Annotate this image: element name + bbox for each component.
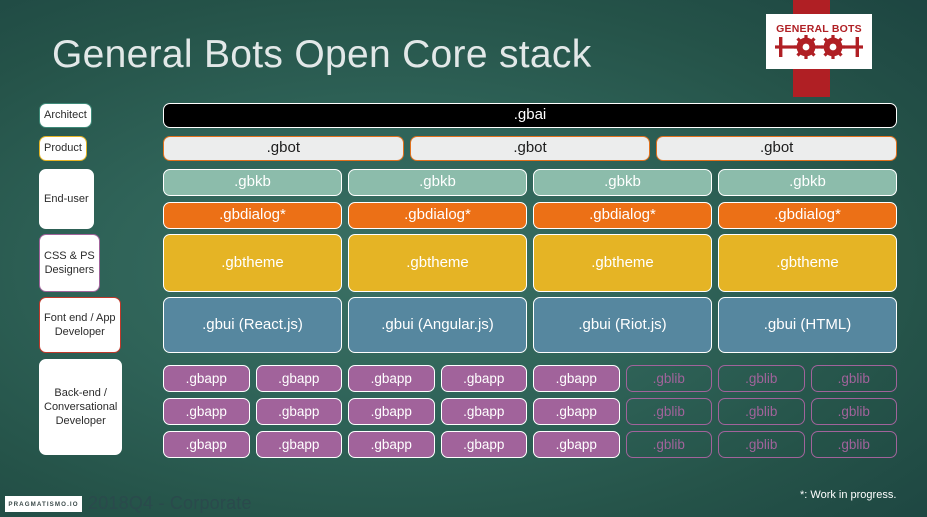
component-gbapp[interactable]: .gbapp (256, 431, 343, 458)
footer-work-in-progress-note: *: Work in progress. (800, 489, 896, 501)
role-label-css-ps-designers: CSS & PSDesigners (39, 234, 100, 292)
stack-cell-gbui-riot[interactable]: .gbui (Riot.js) (533, 297, 712, 353)
stack-row-gbui: .gbui (React.js) .gbui (Angular.js) .gbu… (163, 297, 897, 353)
role-text: CSS & PSDesigners (44, 249, 95, 277)
stack-cell-gbdialog[interactable]: .gbdialog* (718, 202, 897, 229)
component-gbapp[interactable]: .gbapp (163, 431, 250, 458)
component-gblib[interactable]: .gblib (718, 431, 805, 458)
component-gbapp[interactable]: .gbapp (533, 398, 620, 425)
stack-cell-gbui-html[interactable]: .gbui (HTML) (718, 297, 897, 353)
component-gblib[interactable]: .gblib (811, 398, 898, 425)
component-grid-row: .gbapp .gbapp .gbapp .gbapp .gbapp .gbli… (163, 431, 897, 458)
component-gbapp[interactable]: .gbapp (348, 365, 435, 392)
role-text: Product (44, 141, 82, 155)
stack-cell-gbkb[interactable]: .gbkb (348, 169, 527, 196)
role-text: Architect (44, 108, 87, 122)
component-gblib[interactable]: .gblib (718, 398, 805, 425)
stack-row-gbai: .gbai (163, 103, 897, 128)
component-gblib[interactable]: .gblib (718, 365, 805, 392)
general-bots-logo: GENERAL BOTS (766, 14, 872, 69)
component-gbapp[interactable]: .gbapp (256, 398, 343, 425)
component-gbapp[interactable]: .gbapp (533, 365, 620, 392)
component-gbapp[interactable]: .gbapp (441, 398, 528, 425)
component-gbapp[interactable]: .gbapp (163, 398, 250, 425)
stack-cell-gbdialog[interactable]: .gbdialog* (348, 202, 527, 229)
stack-cell-gbot[interactable]: .gbot (656, 136, 897, 161)
stack-cell-gbkb[interactable]: .gbkb (718, 169, 897, 196)
pragmatismo-logo: PRAGMATISMO.IO (5, 496, 82, 512)
stack-cell-gbdialog[interactable]: .gbdialog* (163, 202, 342, 229)
component-gblib[interactable]: .gblib (811, 431, 898, 458)
role-text: Back-end /ConversationalDeveloper (44, 386, 117, 428)
slide-canvas: GENERAL BOTS (0, 0, 927, 517)
stack-cell-gbot[interactable]: .gbot (410, 136, 651, 161)
stack-cell-gbkb[interactable]: .gbkb (163, 169, 342, 196)
role-label-front-end-app-developer: Font end / AppDeveloper (39, 297, 121, 353)
component-gblib[interactable]: .gblib (626, 365, 713, 392)
page-title: General Bots Open Core stack (52, 33, 592, 77)
stack-cell-gbkb[interactable]: .gbkb (533, 169, 712, 196)
component-gblib[interactable]: .gblib (626, 398, 713, 425)
component-grid: .gbapp .gbapp .gbapp .gbapp .gbapp .gbli… (163, 365, 897, 458)
role-label-product: Product (39, 136, 87, 161)
component-grid-row: .gbapp .gbapp .gbapp .gbapp .gbapp .gbli… (163, 398, 897, 425)
component-gbapp[interactable]: .gbapp (163, 365, 250, 392)
stack-row-gbdialog: .gbdialog* .gbdialog* .gbdialog* .gbdial… (163, 202, 897, 229)
logo-wordmark: GENERAL BOTS (776, 24, 862, 35)
stack-cell-gbtheme[interactable]: .gbtheme (163, 234, 342, 292)
component-grid-row: .gbapp .gbapp .gbapp .gbapp .gbapp .gbli… (163, 365, 897, 392)
stack-cell-gbui-react[interactable]: .gbui (React.js) (163, 297, 342, 353)
component-gbapp[interactable]: .gbapp (348, 431, 435, 458)
component-gbapp[interactable]: .gbapp (533, 431, 620, 458)
stack-row-gbtheme: .gbtheme .gbtheme .gbtheme .gbtheme (163, 234, 897, 292)
gears-icon (775, 35, 863, 59)
stack-cell-gbui-angular[interactable]: .gbui (Angular.js) (348, 297, 527, 353)
component-gbapp[interactable]: .gbapp (348, 398, 435, 425)
component-gblib[interactable]: .gblib (811, 365, 898, 392)
role-label-end-user: End-user (39, 169, 94, 229)
component-gbapp[interactable]: .gbapp (441, 365, 528, 392)
stack-cell-gbot[interactable]: .gbot (163, 136, 404, 161)
pragmatismo-wordmark: PRAGMATISMO.IO (8, 501, 78, 508)
footer-caption: 2018Q4 - Corporate (88, 493, 252, 514)
stack-cell-gbtheme[interactable]: .gbtheme (718, 234, 897, 292)
stack-row-gbot: .gbot .gbot .gbot (163, 136, 897, 161)
component-gblib[interactable]: .gblib (626, 431, 713, 458)
component-gbapp[interactable]: .gbapp (441, 431, 528, 458)
stack-cell-gbai[interactable]: .gbai (163, 103, 897, 128)
role-label-back-end-conversational-developer: Back-end /ConversationalDeveloper (39, 359, 122, 455)
stack-cell-gbdialog[interactable]: .gbdialog* (533, 202, 712, 229)
stack-cell-gbtheme[interactable]: .gbtheme (533, 234, 712, 292)
role-text: End-user (44, 192, 89, 206)
role-text: Font end / AppDeveloper (44, 311, 116, 339)
component-gbapp[interactable]: .gbapp (256, 365, 343, 392)
role-label-architect: Architect (39, 103, 92, 128)
stack-row-gbkb: .gbkb .gbkb .gbkb .gbkb (163, 169, 897, 196)
stack-cell-gbtheme[interactable]: .gbtheme (348, 234, 527, 292)
